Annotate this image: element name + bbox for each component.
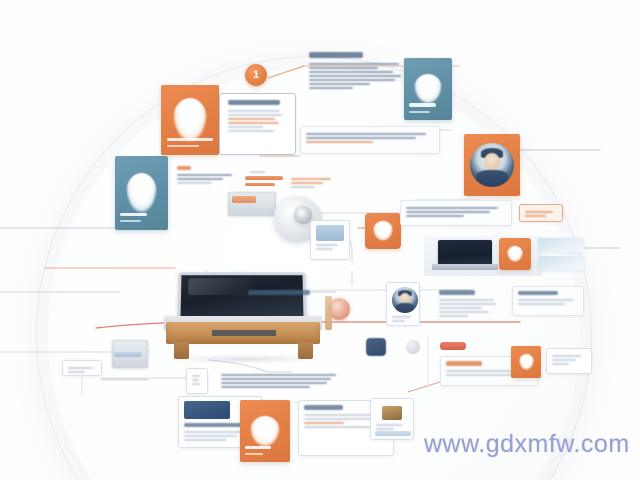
site-watermark: www.gdxmfw.com <box>424 430 630 459</box>
panel-mid-right-note[interactable] <box>300 126 440 154</box>
teal-poster-left-caption <box>120 213 162 224</box>
right-list-title <box>439 290 501 295</box>
card-orange-poster-bottom[interactable] <box>240 400 290 462</box>
panel-top-right-heading <box>304 48 410 120</box>
left-teal-illustration-icon <box>126 173 158 213</box>
stand-leg-left <box>174 342 189 359</box>
nested-screenshot-bar <box>375 431 411 436</box>
card-orange-chip-bottom-right[interactable] <box>511 346 541 378</box>
icon-blue-knob <box>366 338 386 356</box>
center-orange-illustration-icon <box>373 221 392 240</box>
panel-small-avatar[interactable] <box>386 282 420 326</box>
card-orange-portrait[interactable] <box>464 134 520 196</box>
orange-poster-bottom-caption <box>245 446 285 457</box>
top-right-heading-title <box>309 52 405 58</box>
poster-illustration-icon <box>173 98 208 141</box>
small-avatar-face-icon <box>400 293 409 303</box>
top-right-heading-lines <box>309 63 405 89</box>
left-note-title <box>177 166 237 170</box>
mid-right-note-lines <box>306 133 434 143</box>
top-center-list-lines <box>225 110 290 132</box>
top-center-list-title <box>228 100 288 105</box>
teal-poster-top-right-caption <box>409 103 447 115</box>
nested-screenshot-thumb <box>382 406 402 420</box>
card-blue-laptop-side-b[interactable] <box>538 256 584 270</box>
panel-printer-caption <box>96 372 158 382</box>
portrait-face-icon <box>484 153 500 171</box>
chip-orange-left-a <box>245 176 283 180</box>
panel-right-list <box>434 286 506 326</box>
panel-top-center-list[interactable] <box>219 93 296 155</box>
teal-poster-illustration-icon <box>414 74 443 104</box>
small-avatar-body-icon <box>396 303 415 313</box>
panel-icon-glyph-group[interactable] <box>186 368 208 394</box>
icon-laptop <box>438 240 492 266</box>
infographic-canvas: 1 <box>0 0 640 480</box>
small-avatar <box>392 287 418 313</box>
icon-laptop-base <box>432 264 498 270</box>
card-orange-laptop-side[interactable] <box>499 238 531 270</box>
panel-left-chip-note <box>286 172 342 194</box>
chip-orange-left-b <box>245 183 275 186</box>
card-teal-poster-top-right[interactable] <box>404 58 452 120</box>
portrait-body-icon <box>476 170 508 187</box>
hero-instruction-lines <box>221 374 341 388</box>
bottom-center-card-thumb <box>184 401 230 419</box>
left-note-lines <box>177 174 237 184</box>
icon-document-tray-label <box>232 196 256 203</box>
icon-printer-tray <box>114 352 142 357</box>
panel-far-right-note[interactable] <box>512 286 584 316</box>
icon-tan-bar <box>325 296 332 330</box>
right-mid-note-lines <box>406 207 506 217</box>
chip-red-tag <box>440 342 466 350</box>
panel-tiny-paper-left[interactable] <box>62 360 102 376</box>
orange-poster-top-left-caption <box>167 138 213 149</box>
panel-center-caption <box>243 286 323 302</box>
icon-gray-dot <box>406 340 420 354</box>
right-list-lines <box>439 299 501 317</box>
card-blue-laptop-side-a[interactable] <box>538 238 584 252</box>
laptop-side-illustration-icon <box>507 246 524 263</box>
panel-left-chip-caption <box>245 165 271 173</box>
tag-orange-highlight[interactable] <box>519 204 563 222</box>
card-orange-center[interactable] <box>365 213 401 249</box>
panel-bottom-right-chip-note[interactable] <box>546 348 592 374</box>
card-orange-poster-top-left[interactable] <box>161 85 219 155</box>
panel-center-device[interactable] <box>310 220 350 260</box>
panel-nested-screenshot[interactable] <box>370 398 414 440</box>
stand-leg-right <box>298 342 313 359</box>
bottom-right-chip-illustration-icon <box>519 354 534 370</box>
stand-drawer-slot <box>212 330 276 336</box>
bottom-poster-illustration-icon <box>250 416 280 447</box>
center-device-screen <box>316 225 344 241</box>
card-teal-poster-left[interactable] <box>115 156 168 230</box>
portrait-avatar <box>470 143 514 187</box>
step-badge-1[interactable]: 1 <box>245 64 267 86</box>
step-badge-label: 1 <box>253 69 259 81</box>
panel-right-mid-note[interactable] <box>400 200 512 226</box>
